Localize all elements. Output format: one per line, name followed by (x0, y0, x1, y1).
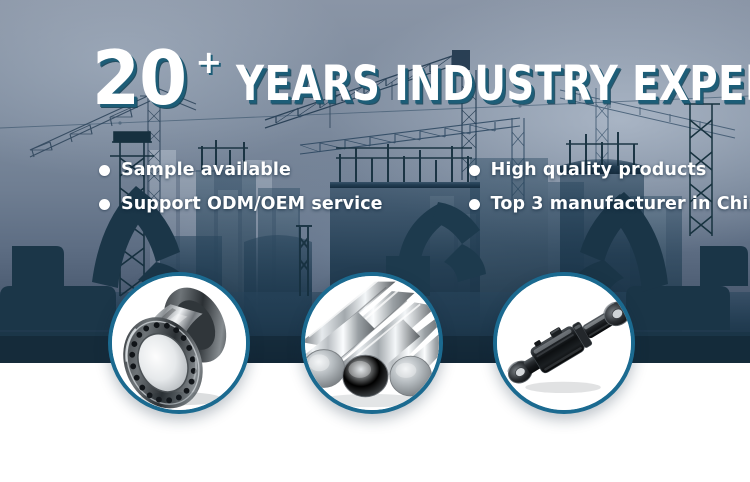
feature-label: Support ODM/OEM service (121, 194, 383, 214)
steel-flange-photo (112, 276, 246, 410)
industry-experience-banner: 20 + YEARS INDUSTRY EXPERIENCE Sample av… (0, 0, 750, 482)
headline-text: YEARS INDUSTRY EXPERIENCE (236, 61, 750, 109)
years-number-group: 20 + (92, 44, 222, 113)
dot-bullet-icon (99, 165, 110, 176)
feature-label: High quality products (491, 160, 707, 180)
feature-column-right: High quality products Top 3 manufacturer… (469, 160, 750, 214)
feature-item: High quality products (469, 160, 750, 180)
years-number: 20 (92, 44, 186, 113)
feature-label: Sample available (121, 160, 291, 180)
feature-label: Top 3 manufacturer in China (491, 194, 750, 214)
feature-item: Support ODM/OEM service (99, 194, 383, 214)
feature-item: Sample available (99, 160, 383, 180)
feature-item: Top 3 manufacturer in China (469, 194, 750, 214)
product-circle-hydraulic-cylinder[interactable] (493, 272, 635, 414)
headline: 20 + YEARS INDUSTRY EXPERIENCE (92, 44, 750, 113)
steel-round-bars-photo (305, 276, 439, 410)
dot-bullet-icon (469, 165, 480, 176)
plus-sign: + (195, 46, 222, 78)
product-circle-steel-bars[interactable] (301, 272, 443, 414)
hydraulic-cylinder-photo (497, 276, 631, 410)
feature-list: Sample available Support ODM/OEM service… (99, 160, 750, 214)
product-circle-steel-flange[interactable] (108, 272, 250, 414)
dot-bullet-icon (99, 199, 110, 210)
dot-bullet-icon (469, 199, 480, 210)
feature-column-left: Sample available Support ODM/OEM service (99, 160, 383, 214)
